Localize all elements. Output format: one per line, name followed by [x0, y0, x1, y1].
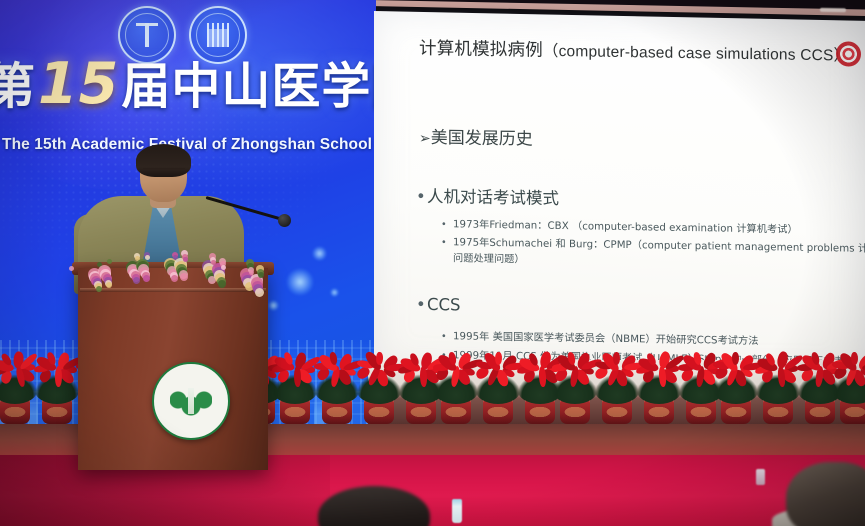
slide-bullet-level3-continuation: 问题处理问题） — [453, 249, 525, 265]
flower-blossom — [96, 286, 102, 292]
bullet-marker-dot-icon: • — [442, 237, 453, 248]
flower-blossom — [143, 275, 150, 282]
bullet-marker-dot-icon: • — [442, 331, 453, 342]
petal — [330, 352, 338, 366]
flower-blossom — [145, 255, 150, 260]
bullet-text: 1995年 美国国家医学考试委员会（NBME）开始研究CCS考试方法 — [453, 331, 759, 347]
conference-photo-scene: 第15届中山医学院学术节 The 15th Academic Festival … — [0, 0, 865, 526]
microphone-head-icon — [278, 214, 291, 227]
banner-title-suffix: 届中山医学院学术节 — [121, 58, 376, 115]
sun-yat-sen-university-seal — [152, 362, 230, 440]
flower-blossom — [258, 272, 264, 278]
slide-title-cn: 计算机模拟病例 — [419, 39, 543, 61]
slide-title-en: （computer-based case simulations CCS） — [543, 43, 849, 65]
bokeh-light — [312, 246, 327, 261]
flower-blossom — [255, 288, 264, 297]
slide-corner-logo-icon — [836, 41, 861, 66]
petal — [494, 352, 502, 366]
audience-head — [786, 462, 865, 526]
water-bottle — [756, 469, 765, 485]
ceiling-light — [820, 8, 846, 12]
flower-blossom — [106, 282, 112, 288]
speaker-glasses-icon — [143, 168, 185, 177]
flower-blossom — [218, 280, 226, 288]
petal — [732, 352, 740, 365]
projection-slide: 计算机模拟病例（computer-based case simulations … — [374, 11, 865, 381]
slide-bullet-level1: ➢美国发展历史 — [419, 123, 533, 150]
petal — [375, 352, 384, 366]
bullet-marker-dot-icon: • — [442, 219, 453, 230]
poinsettia-bloom — [829, 350, 865, 384]
petal — [658, 366, 666, 387]
bullet-text: 人机对话考试模式 — [427, 187, 559, 208]
slide-bullet-level3: •1995年 美国国家医学考试委员会（NBME）开始研究CCS考试方法 — [442, 327, 759, 347]
bullet-marker-dot-icon: • — [416, 295, 427, 314]
petal — [613, 352, 621, 366]
bullet-marker-arrow-icon: ➢ — [419, 131, 431, 147]
flower-blossom — [180, 273, 188, 281]
slide-title: 计算机模拟病例（computer-based case simulations … — [419, 35, 849, 67]
banner-title: 第15届中山医学院学术节 — [0, 56, 366, 113]
bokeh-light — [330, 288, 339, 297]
bokeh-light — [286, 268, 314, 296]
poinsettia-plant — [829, 362, 865, 424]
banner-title-prefix: 第 — [0, 58, 36, 115]
slide-bullet-level3: •1973年Friedman：CBX （computer-based exami… — [442, 215, 798, 236]
podium-flower-arrangement — [60, 236, 284, 298]
emblem-inner-mark — [207, 23, 229, 47]
bullet-text: 美国发展历史 — [431, 128, 533, 150]
slide-bullet-level2: •人机对话考试模式 — [416, 183, 559, 209]
flower-blossom — [133, 277, 140, 284]
bokeh-light — [268, 300, 279, 311]
flower-blossom — [107, 259, 112, 264]
bullet-text: 问题处理问题） — [453, 253, 525, 265]
flower-blossom — [183, 257, 188, 262]
slide-bullet-level2: •CCS — [416, 295, 461, 315]
bullet-marker-dot-icon: • — [416, 187, 427, 206]
water-bottle — [452, 499, 462, 523]
petal — [850, 352, 858, 365]
banner-title-number: 15 — [36, 51, 121, 117]
flower-blossom — [171, 275, 178, 282]
flower-blossom — [221, 265, 226, 270]
banner-subtitle: The 15th Academic Festival of Zhongshan … — [2, 136, 374, 154]
bullet-text: CCS — [427, 295, 461, 315]
flower-blossom — [69, 266, 74, 271]
emblem-inner-mark — [136, 23, 158, 47]
